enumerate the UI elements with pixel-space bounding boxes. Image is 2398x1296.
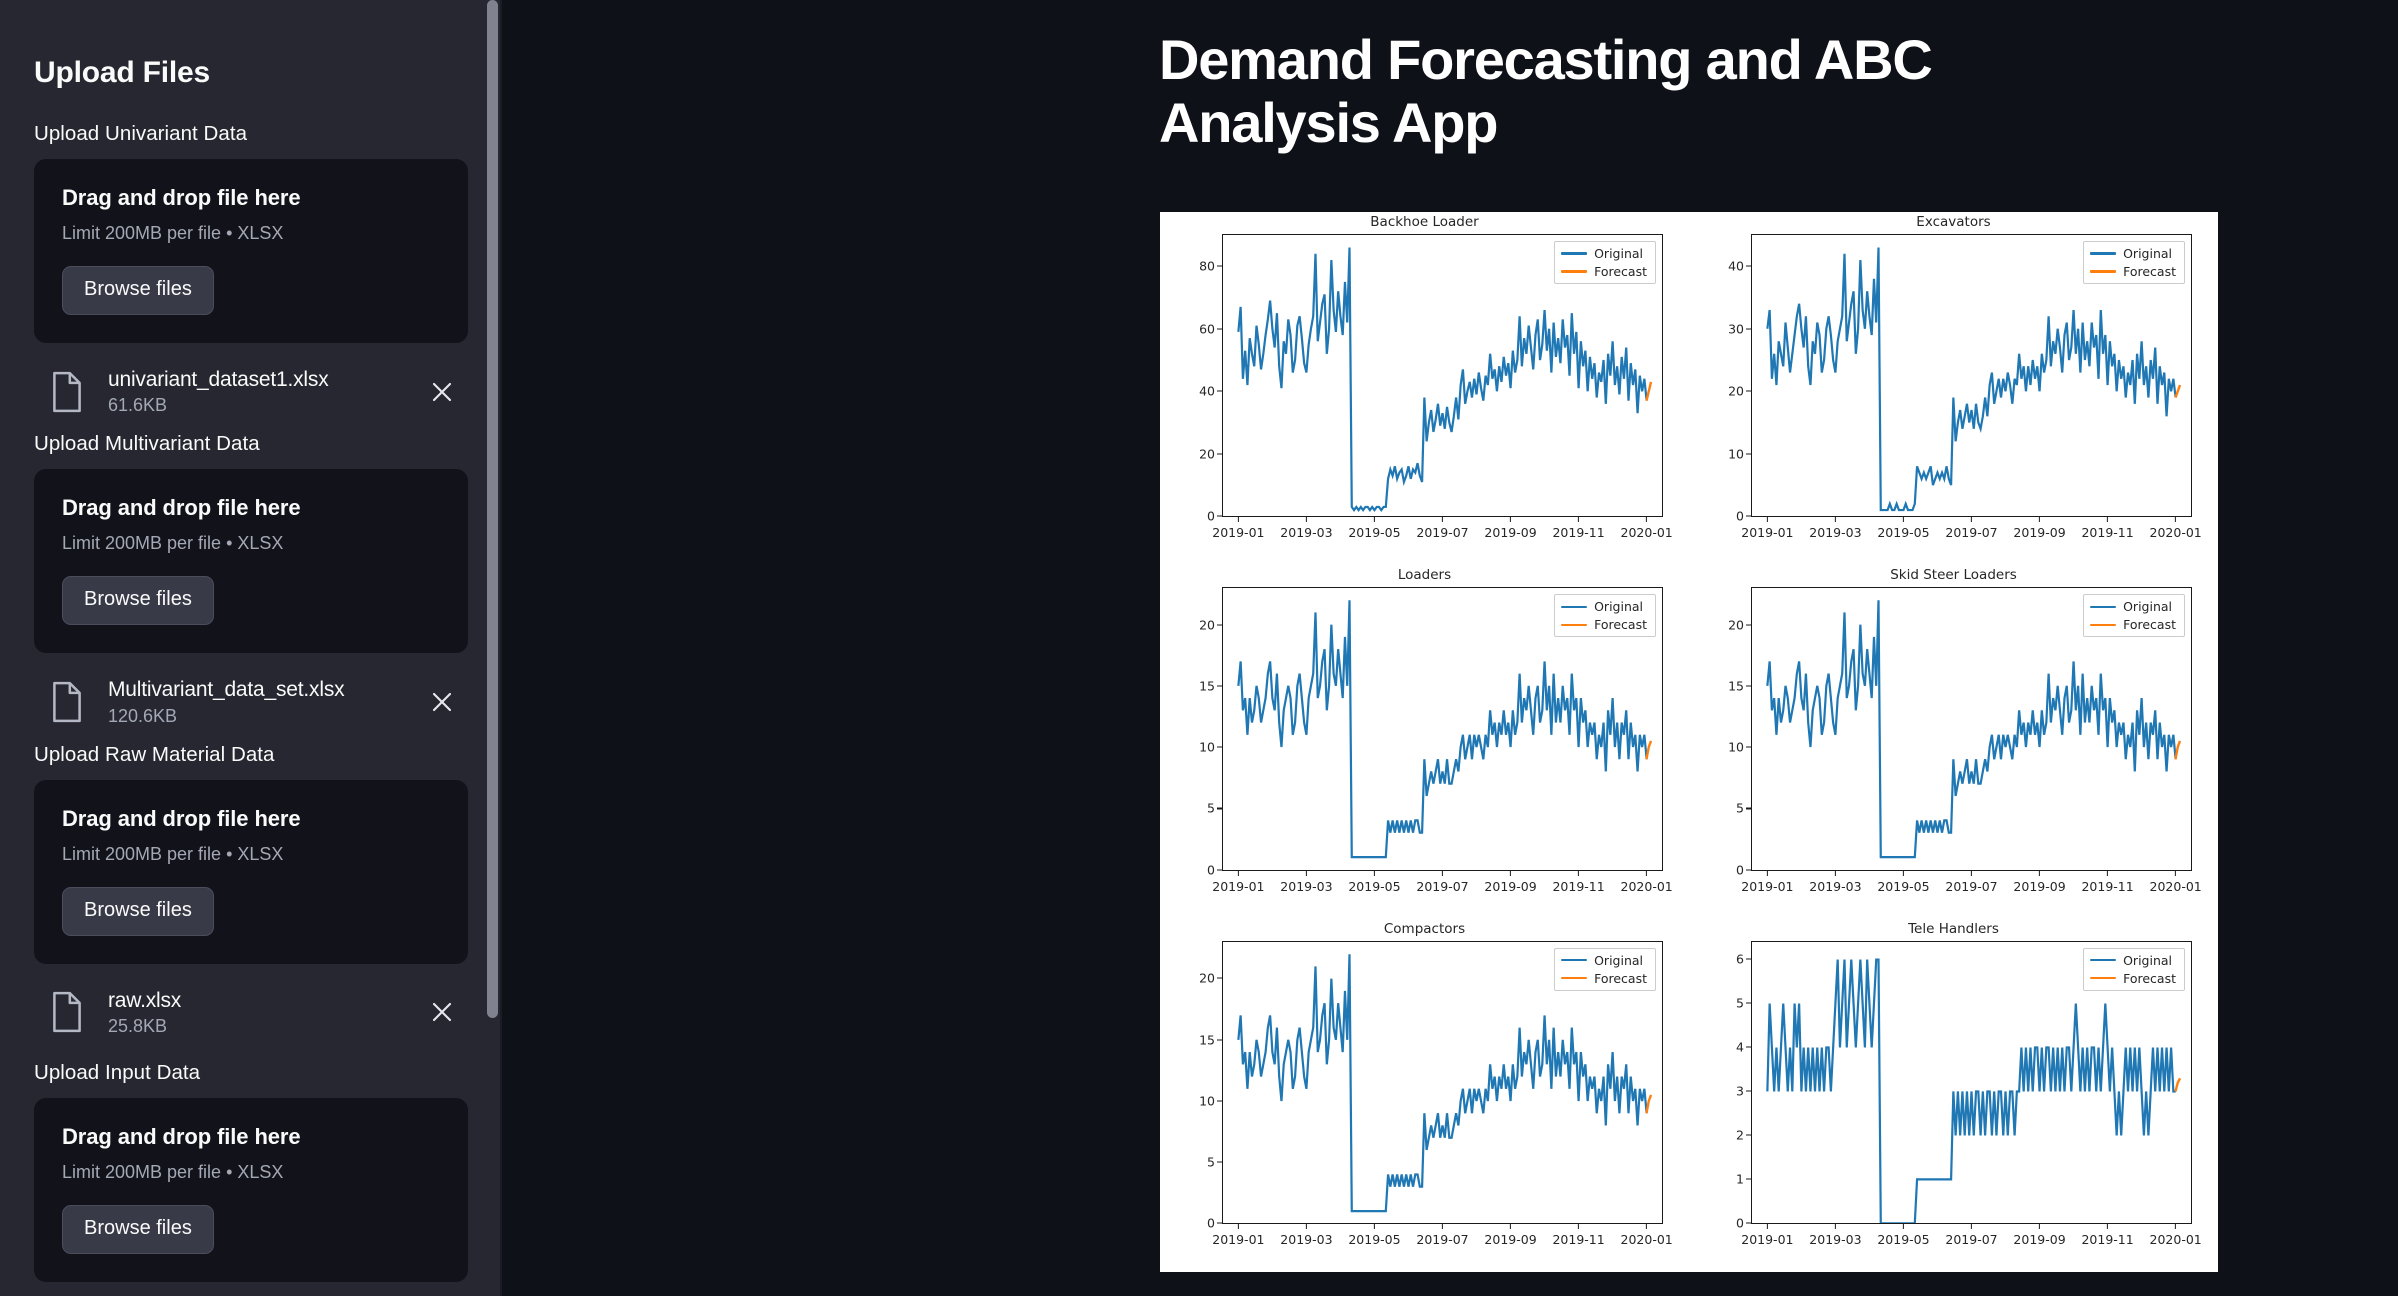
sidebar-content: Upload Files Upload Univariant Data Drag… (0, 0, 502, 1296)
y-axis-tick: 0 (1736, 862, 1744, 877)
x-axis-tick: 2019-05 (1877, 1232, 1929, 1247)
y-axis-tick: 20 (1199, 446, 1215, 461)
dropzone-title: Drag and drop file here (62, 1124, 440, 1150)
y-axis-tick: 2 (1736, 1128, 1744, 1143)
sidebar-scrollbar[interactable] (487, 0, 498, 1018)
x-axis-tick: 2019-03 (1809, 1232, 1861, 1247)
upload-section-input: Upload Input Data Drag and drop file her… (34, 1061, 468, 1282)
section-label-raw-material: Upload Raw Material Data (34, 743, 468, 767)
file-meta: Multivariant_data_set.xlsx 120.6KB (94, 677, 420, 726)
legend-label: Original (2123, 246, 2172, 261)
legend-entry: Forecast (1561, 617, 1647, 632)
x-axis-tick: 2019-07 (1416, 1232, 1468, 1247)
legend-swatch (2090, 252, 2116, 254)
forecast-chart-figure: Backhoe Loader0204060802019-012019-03201… (1160, 212, 2218, 1272)
dropzone-limit-text: Limit 200MB per file • XLSX (62, 844, 440, 865)
dropzone-title: Drag and drop file here (62, 185, 440, 211)
y-axis-tick: 10 (1728, 740, 1744, 755)
dropzone-raw-material[interactable]: Drag and drop file here Limit 200MB per … (34, 780, 468, 964)
plot-area: 0102030402019-012019-032019-052019-07201… (1751, 234, 2192, 517)
browse-files-button-univariant[interactable]: Browse files (62, 266, 214, 315)
file-meta: raw.xlsx 25.8KB (94, 988, 420, 1037)
x-axis-tick: 2019-09 (1484, 1232, 1536, 1247)
plot-area: 051015202019-012019-032019-052019-072019… (1222, 941, 1663, 1224)
file-size: 61.6KB (108, 395, 420, 416)
sidebar-title: Upload Files (34, 56, 468, 90)
x-axis-tick: 2019-11 (2081, 1232, 2133, 1247)
legend-entry: Forecast (2090, 264, 2176, 279)
y-axis-tick: 15 (1728, 679, 1744, 694)
browse-files-button-multivariant[interactable]: Browse files (62, 576, 214, 625)
file-meta: univariant_dataset1.xlsx 61.6KB (94, 367, 420, 416)
legend-label: Forecast (1594, 264, 1647, 279)
series-forecast-line (2175, 385, 2180, 398)
file-size: 25.8KB (108, 1016, 420, 1037)
y-axis-tick: 20 (1728, 618, 1744, 633)
dropzone-title: Drag and drop file here (62, 495, 440, 521)
upload-files-sidebar: Upload Files Upload Univariant Data Drag… (0, 0, 502, 1296)
x-axis-tick: 2019-05 (1348, 879, 1400, 894)
y-axis-tick: 5 (1736, 801, 1744, 816)
legend-label: Forecast (2123, 971, 2176, 986)
x-axis-tick: 2019-09 (2013, 879, 2065, 894)
page-title: Demand Forecasting and ABC Analysis App (1159, 28, 2039, 155)
upload-section-univariant: Upload Univariant Data Drag and drop fil… (34, 122, 468, 426)
x-axis-tick: 2019-07 (1416, 879, 1468, 894)
series-forecast-line (1646, 382, 1651, 401)
y-axis-tick: 1 (1736, 1172, 1744, 1187)
y-axis-tick: 20 (1199, 971, 1215, 986)
x-axis-tick: 2020-01 (1621, 525, 1673, 540)
legend-label: Original (1594, 953, 1643, 968)
x-axis-tick: 2019-09 (2013, 525, 2065, 540)
legend-label: Forecast (2123, 617, 2176, 632)
x-axis-tick: 2019-07 (1945, 525, 1997, 540)
dropzone-limit-text: Limit 200MB per file • XLSX (62, 223, 440, 244)
x-axis-tick: 2019-07 (1945, 1232, 1997, 1247)
y-axis-tick: 40 (1728, 259, 1744, 274)
subplot-excavators: Excavators0102030402019-012019-032019-05… (1689, 212, 2218, 565)
file-icon (40, 991, 94, 1033)
subplot-tele-handlers: Tele Handlers01234562019-012019-032019-0… (1689, 919, 2218, 1272)
app-root: Upload Files Upload Univariant Data Drag… (0, 0, 2398, 1296)
series-forecast-line (1646, 741, 1651, 759)
x-axis-tick: 2019-03 (1280, 525, 1332, 540)
dropzone-limit-text: Limit 200MB per file • XLSX (62, 1162, 440, 1183)
series-original-line (1767, 601, 2175, 858)
subplot-loaders: Loaders051015202019-012019-032019-052019… (1160, 565, 1689, 918)
x-axis-tick: 2019-01 (1741, 879, 1793, 894)
subplot-title: Loaders (1160, 567, 1689, 583)
y-axis-tick: 5 (1736, 996, 1744, 1011)
legend-swatch (1561, 606, 1587, 608)
close-icon[interactable] (420, 1000, 464, 1024)
x-axis-tick: 2019-01 (1212, 525, 1264, 540)
close-icon[interactable] (420, 690, 464, 714)
y-axis-tick: 5 (1207, 1154, 1215, 1169)
x-axis-tick: 2020-01 (2150, 1232, 2202, 1247)
y-axis-tick: 3 (1736, 1084, 1744, 1099)
uploaded-file-row: raw.xlsx 25.8KB (34, 978, 468, 1047)
x-axis-tick: 2019-05 (1348, 525, 1400, 540)
uploaded-file-row: Multivariant_data_set.xlsx 120.6KB (34, 667, 468, 736)
y-axis-tick: 10 (1199, 740, 1215, 755)
legend-swatch (1561, 624, 1587, 626)
y-axis-tick: 60 (1199, 321, 1215, 336)
x-axis-tick: 2019-03 (1280, 1232, 1332, 1247)
close-icon[interactable] (420, 380, 464, 404)
series-forecast-line (2175, 1078, 2180, 1091)
subplot-backhoe-loader: Backhoe Loader0204060802019-012019-03201… (1160, 212, 1689, 565)
series-original-line (1767, 248, 2175, 511)
x-axis-tick: 2019-09 (2013, 1232, 2065, 1247)
legend-label: Original (1594, 599, 1643, 614)
y-axis-tick: 0 (1736, 1216, 1744, 1231)
subplot-skid-steer-loaders: Skid Steer Loaders051015202019-012019-03… (1689, 565, 2218, 918)
section-label-input: Upload Input Data (34, 1061, 468, 1085)
x-axis-tick: 2020-01 (2150, 525, 2202, 540)
legend-swatch (1561, 959, 1587, 961)
subplot-compactors: Compactors051015202019-012019-032019-052… (1160, 919, 1689, 1272)
x-axis-tick: 2019-05 (1877, 525, 1929, 540)
x-axis-tick: 2019-03 (1809, 879, 1861, 894)
browse-files-button-raw-material[interactable]: Browse files (62, 887, 214, 936)
plot-area: 051015202019-012019-032019-052019-072019… (1222, 587, 1663, 870)
file-name: Multivariant_data_set.xlsx (108, 677, 420, 703)
series-forecast-line (2175, 741, 2180, 759)
chart-legend: OriginalForecast (1554, 948, 1656, 991)
y-axis-tick: 5 (1207, 801, 1215, 816)
x-axis-tick: 2019-11 (1552, 1232, 1604, 1247)
x-axis-tick: 2019-01 (1212, 1232, 1264, 1247)
section-label-multivariant: Upload Multivariant Data (34, 432, 468, 456)
file-name: raw.xlsx (108, 988, 420, 1014)
dropzone-limit-text: Limit 200MB per file • XLSX (62, 533, 440, 554)
x-axis-tick: 2019-05 (1877, 879, 1929, 894)
legend-entry: Original (2090, 246, 2176, 261)
y-axis-tick: 20 (1728, 384, 1744, 399)
legend-swatch (2090, 606, 2116, 608)
plot-area: 01234562019-012019-032019-052019-072019-… (1751, 941, 2192, 1224)
file-icon (40, 681, 94, 723)
chart-legend: OriginalForecast (1554, 594, 1656, 637)
legend-label: Original (2123, 953, 2172, 968)
y-axis-tick: 0 (1207, 509, 1215, 524)
x-axis-tick: 2019-03 (1280, 879, 1332, 894)
uploaded-file-row: univariant_dataset1.xlsx 61.6KB (34, 357, 468, 426)
upload-section-raw-material: Upload Raw Material Data Drag and drop f… (34, 743, 468, 1047)
x-axis-tick: 2019-07 (1945, 879, 1997, 894)
legend-swatch (2090, 959, 2116, 961)
legend-label: Forecast (2123, 264, 2176, 279)
legend-entry: Forecast (2090, 971, 2176, 986)
y-axis-tick: 15 (1199, 1032, 1215, 1047)
legend-entry: Original (1561, 246, 1647, 261)
x-axis-tick: 2019-01 (1741, 525, 1793, 540)
x-axis-tick: 2020-01 (1621, 1232, 1673, 1247)
x-axis-tick: 2019-05 (1348, 1232, 1400, 1247)
file-icon (40, 371, 94, 413)
legend-swatch (1561, 252, 1587, 254)
y-axis-tick: 20 (1199, 618, 1215, 633)
legend-entry: Forecast (2090, 617, 2176, 632)
y-axis-tick: 15 (1199, 679, 1215, 694)
y-axis-tick: 6 (1736, 952, 1744, 967)
legend-label: Forecast (1594, 617, 1647, 632)
y-axis-tick: 80 (1199, 259, 1215, 274)
dropzone-univariant[interactable]: Drag and drop file here Limit 200MB per … (34, 159, 468, 343)
legend-entry: Original (2090, 953, 2176, 968)
x-axis-tick: 2019-11 (2081, 879, 2133, 894)
file-name: univariant_dataset1.xlsx (108, 367, 420, 393)
y-axis-tick: 40 (1199, 384, 1215, 399)
chart-legend: OriginalForecast (2083, 241, 2185, 284)
legend-swatch (2090, 270, 2116, 272)
legend-entry: Forecast (1561, 971, 1647, 986)
y-axis-tick: 0 (1736, 509, 1744, 524)
subplot-title: Skid Steer Loaders (1689, 567, 2218, 583)
legend-entry: Forecast (1561, 264, 1647, 279)
upload-section-multivariant: Upload Multivariant Data Drag and drop f… (34, 432, 468, 736)
x-axis-tick: 2019-11 (1552, 879, 1604, 894)
y-axis-tick: 10 (1728, 446, 1744, 461)
x-axis-tick: 2019-01 (1212, 879, 1264, 894)
subplot-title: Tele Handlers (1689, 921, 2218, 937)
subplot-title: Backhoe Loader (1160, 214, 1689, 230)
legend-entry: Original (1561, 953, 1647, 968)
section-label-univariant: Upload Univariant Data (34, 122, 468, 146)
y-axis-tick: 0 (1207, 1216, 1215, 1231)
main-content: Demand Forecasting and ABC Analysis App … (502, 0, 2398, 1296)
dropzone-title: Drag and drop file here (62, 806, 440, 832)
file-size: 120.6KB (108, 706, 420, 727)
chart-legend: OriginalForecast (1554, 241, 1656, 284)
dropzone-multivariant[interactable]: Drag and drop file here Limit 200MB per … (34, 469, 468, 653)
x-axis-tick: 2019-11 (1552, 525, 1604, 540)
chart-subplot-grid: Backhoe Loader0204060802019-012019-03201… (1160, 212, 2218, 1272)
plot-area: 051015202019-012019-032019-052019-072019… (1751, 587, 2192, 870)
legend-entry: Original (1561, 599, 1647, 614)
x-axis-tick: 2019-03 (1809, 525, 1861, 540)
series-forecast-line (1646, 1095, 1651, 1113)
legend-swatch (1561, 977, 1587, 979)
chart-legend: OriginalForecast (2083, 948, 2185, 991)
legend-label: Forecast (1594, 971, 1647, 986)
subplot-title: Excavators (1689, 214, 2218, 230)
browse-files-button-input[interactable]: Browse files (62, 1205, 214, 1254)
x-axis-tick: 2020-01 (1621, 879, 1673, 894)
chart-legend: OriginalForecast (2083, 594, 2185, 637)
y-axis-tick: 10 (1199, 1093, 1215, 1108)
series-original-line (1238, 601, 1646, 858)
legend-entry: Original (2090, 599, 2176, 614)
x-axis-tick: 2019-07 (1416, 525, 1468, 540)
x-axis-tick: 2019-01 (1741, 1232, 1793, 1247)
y-axis-tick: 4 (1736, 1040, 1744, 1055)
x-axis-tick: 2020-01 (2150, 879, 2202, 894)
series-original-line (1238, 954, 1646, 1211)
subplot-title: Compactors (1160, 921, 1689, 937)
x-axis-tick: 2019-09 (1484, 879, 1536, 894)
series-original-line (1238, 248, 1646, 511)
legend-swatch (2090, 624, 2116, 626)
legend-swatch (1561, 270, 1587, 272)
legend-label: Original (2123, 599, 2172, 614)
plot-area: 0204060802019-012019-032019-052019-07201… (1222, 234, 1663, 517)
dropzone-input[interactable]: Drag and drop file here Limit 200MB per … (34, 1098, 468, 1282)
y-axis-tick: 30 (1728, 321, 1744, 336)
x-axis-tick: 2019-11 (2081, 525, 2133, 540)
legend-swatch (2090, 977, 2116, 979)
x-axis-tick: 2019-09 (1484, 525, 1536, 540)
y-axis-tick: 0 (1207, 862, 1215, 877)
legend-label: Original (1594, 246, 1643, 261)
series-original-line (1767, 959, 2175, 1223)
